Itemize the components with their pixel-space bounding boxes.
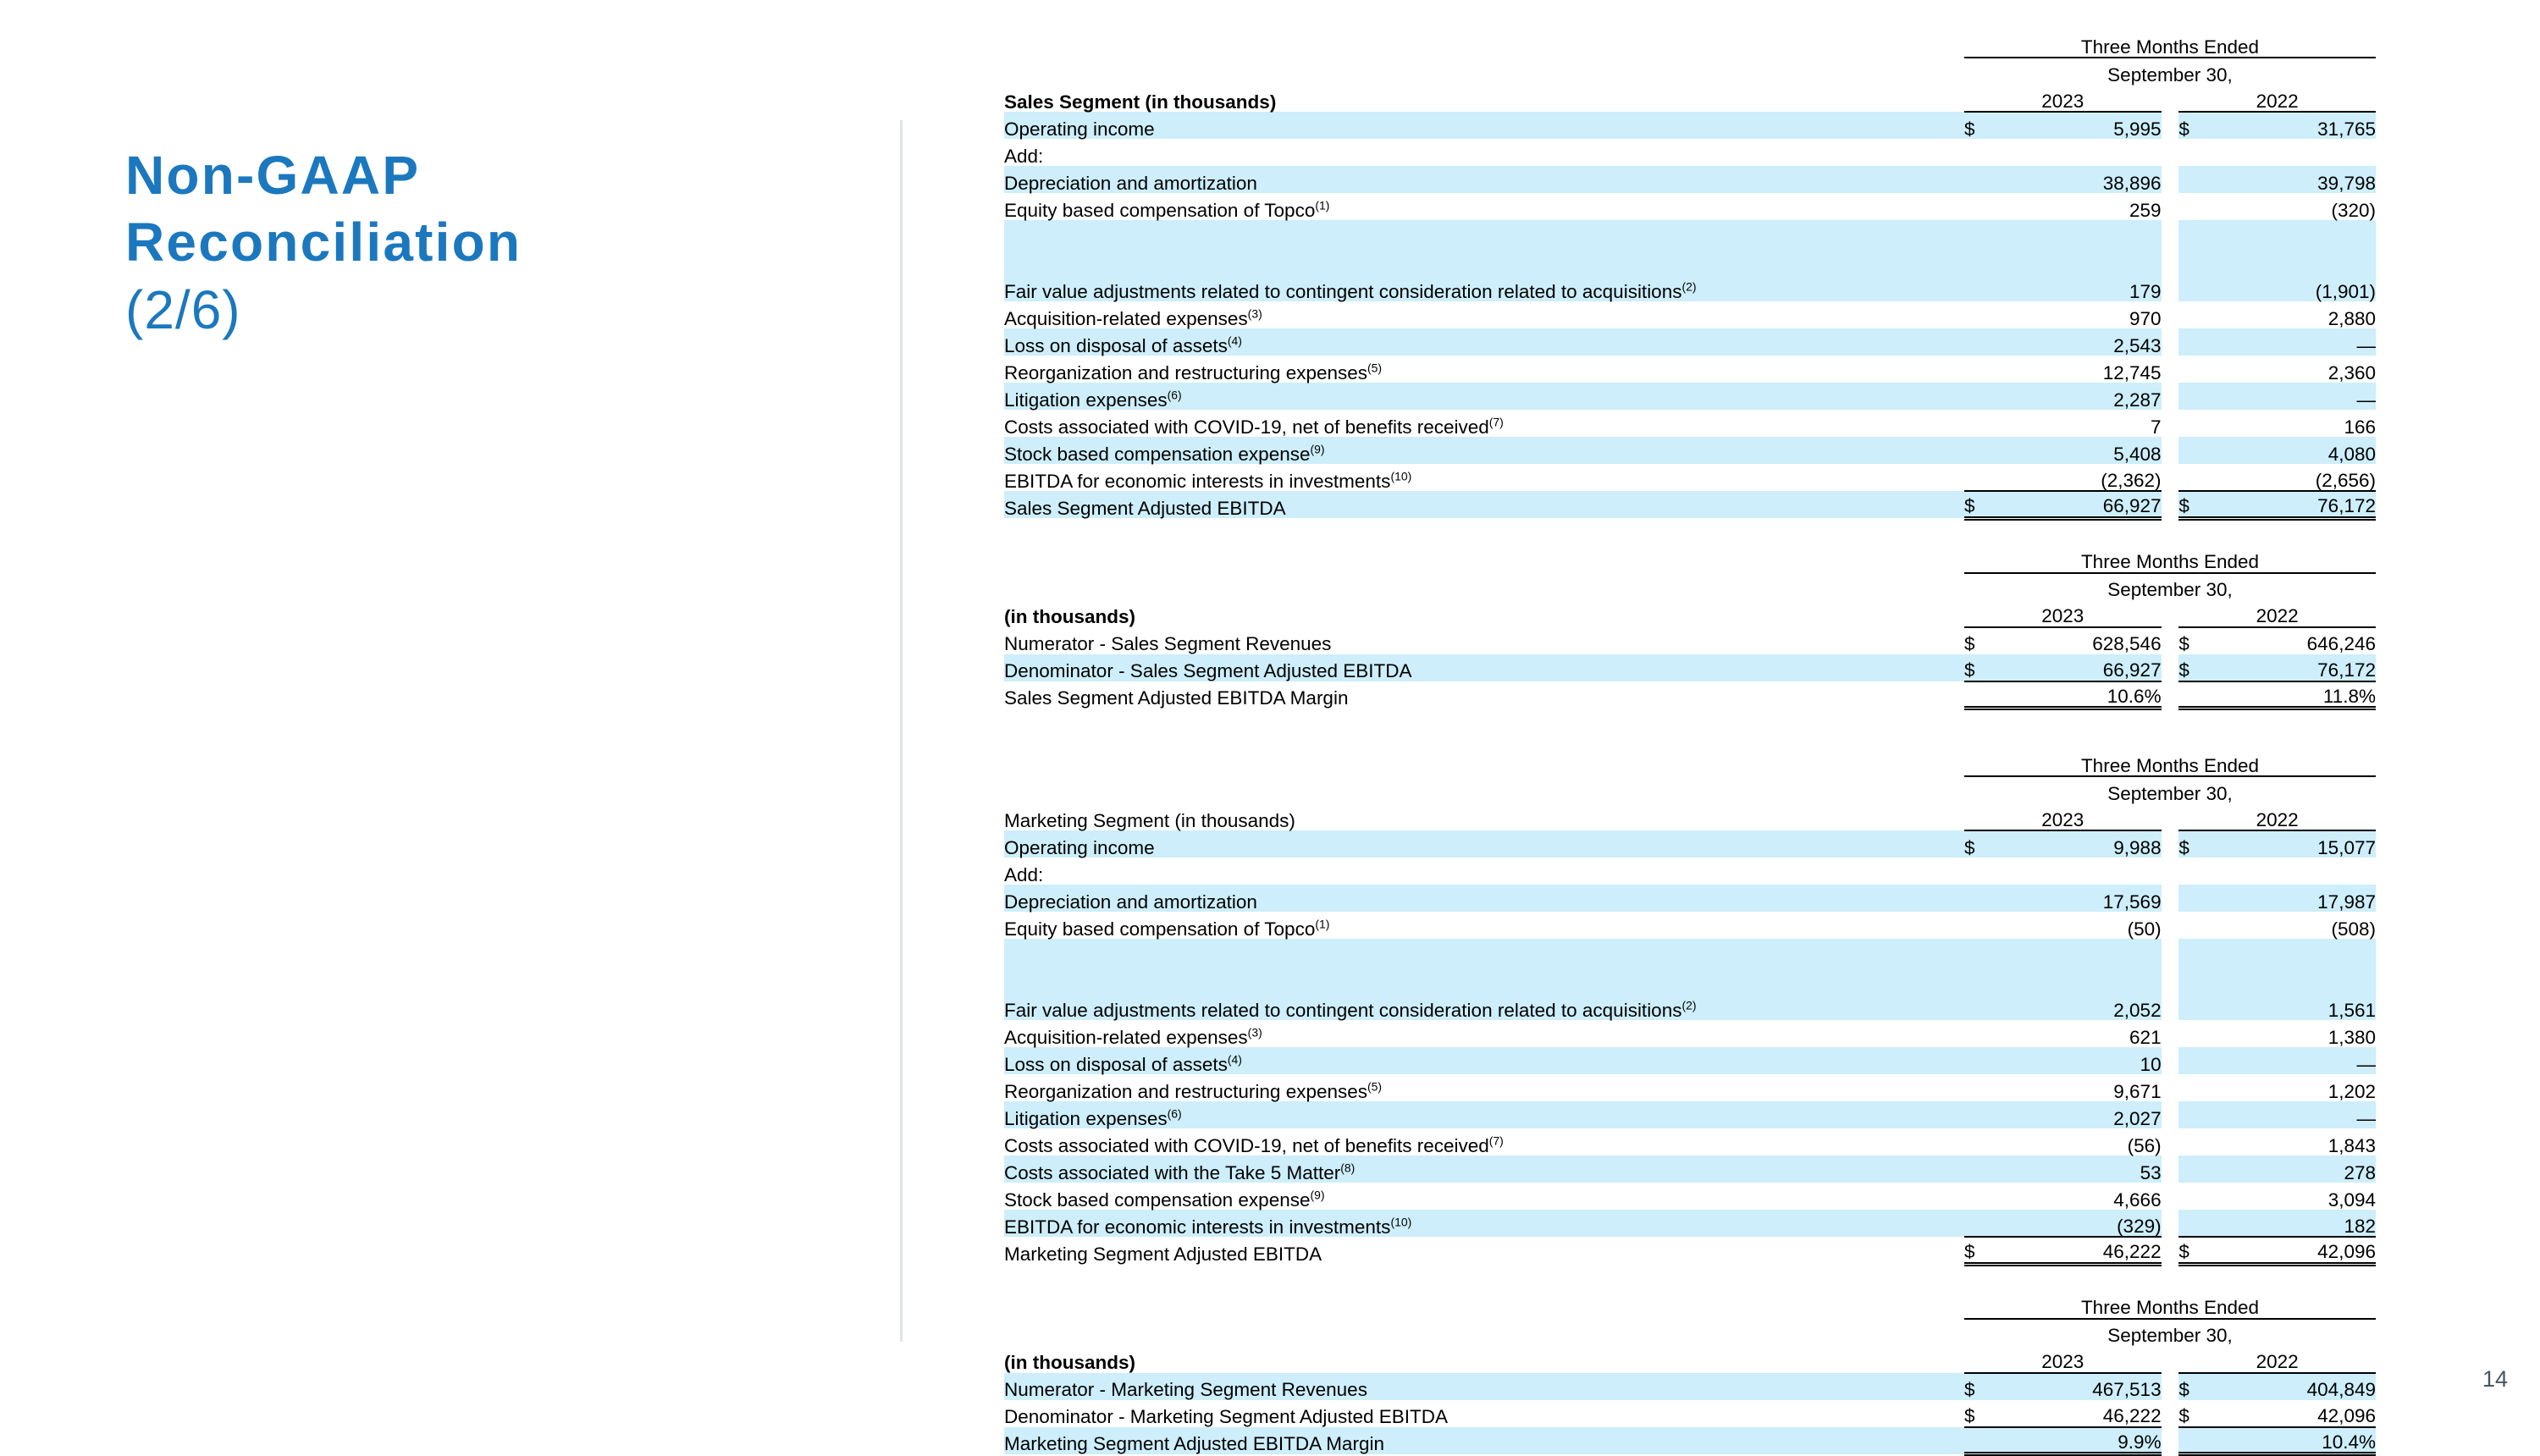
table-column-header-row: Sales Segment (in thousands)20232022 — [1004, 85, 2376, 112]
table-row: Stock based compensation expense(9)5,408… — [1004, 437, 2376, 464]
table-date-header: September 30, — [1964, 1319, 2376, 1346]
value-2022: 4,080 — [2235, 437, 2376, 464]
currency-symbol-2023: $ — [1964, 627, 2020, 654]
currency-symbol-2022 — [2178, 681, 2234, 709]
currency-symbol-2022 — [2178, 437, 2234, 464]
value-2022 — [2235, 247, 2376, 274]
row-label — [1004, 966, 1964, 993]
value-2022 — [2235, 966, 2376, 993]
table-row: Fair value adjustments related to contin… — [1004, 274, 2376, 301]
currency-symbol-2023 — [1964, 274, 2020, 301]
footnote-marker: (7) — [1489, 1133, 1504, 1147]
value-2023: 10.6% — [2020, 681, 2161, 709]
currency-symbol-2023 — [1964, 681, 2020, 709]
row-label: EBITDA for economic interests in investm… — [1004, 1210, 1964, 1237]
value-2022: 1,380 — [2235, 1020, 2376, 1047]
row-label: Operating income — [1004, 830, 1964, 858]
column-gap — [2162, 1427, 2179, 1454]
table-column-header-row: (in thousands)20232022 — [1004, 600, 2376, 627]
table-year-header-2022: 2022 — [2178, 1346, 2376, 1373]
row-label: Marketing Segment Adjusted EBITDA Margin — [1004, 1427, 1964, 1454]
value-2022 — [2235, 139, 2376, 166]
table-row: Acquisition-related expenses(3)6211,380 — [1004, 1020, 2376, 1047]
page-number: 14 — [2482, 1366, 2508, 1393]
currency-symbol-2022 — [2178, 885, 2234, 912]
vertical-divider — [900, 120, 903, 1342]
column-gap — [2162, 1373, 2179, 1400]
table-period-header: Three Months Ended — [1964, 546, 2376, 573]
column-gap — [2162, 1210, 2179, 1237]
currency-symbol-2022 — [2178, 993, 2234, 1020]
row-label: Litigation expenses(6) — [1004, 1101, 1964, 1128]
table-column-header-row: Marketing Segment (in thousands)20232022 — [1004, 803, 2376, 830]
financial-tables-region: Three Months EndedSeptember 30,Sales Seg… — [1004, 30, 2376, 1456]
column-gap — [2162, 912, 2179, 939]
value-2023: 467,513 — [2020, 1373, 2161, 1400]
currency-symbol-2023 — [1964, 220, 2020, 247]
currency-symbol-2023 — [1964, 912, 2020, 939]
table-row — [1004, 939, 2376, 966]
value-2022: — — [2235, 1047, 2376, 1074]
financial-table: Three Months EndedSeptember 30,(in thous… — [1004, 1266, 2376, 1456]
page-title-line-1: Non-GAAP — [125, 142, 853, 209]
table-year-header-2022: 2022 — [2178, 600, 2376, 627]
table-year-header-2022: 2022 — [2178, 85, 2376, 112]
table-row: Reorganization and restructuring expense… — [1004, 1074, 2376, 1101]
table-column-label: (in thousands) — [1004, 1346, 1964, 1373]
footnote-marker: (10) — [1390, 469, 1411, 483]
table-spacer — [1004, 521, 2376, 546]
currency-symbol-2023 — [1964, 966, 2020, 993]
row-label: Sales Segment Adjusted EBITDA — [1004, 491, 1964, 518]
value-2023: (56) — [2020, 1128, 2161, 1155]
table-date-header-row: September 30, — [1004, 58, 2376, 85]
table-row: Marketing Segment Adjusted EBITDA$46,222… — [1004, 1237, 2376, 1264]
value-2023: 9.9% — [2020, 1427, 2161, 1454]
column-gap — [2162, 274, 2179, 301]
table-date-header: September 30, — [1964, 776, 2376, 803]
table-column-label: Sales Segment (in thousands) — [1004, 85, 1964, 112]
table-row — [1004, 247, 2376, 274]
currency-symbol-2023 — [1964, 356, 2020, 383]
table-row: EBITDA for economic interests in investm… — [1004, 1210, 2376, 1237]
table-row: Depreciation and amortization38,89639,79… — [1004, 166, 2376, 193]
row-label: Depreciation and amortization — [1004, 885, 1964, 912]
table-row: Acquisition-related expenses(3)9702,880 — [1004, 301, 2376, 328]
column-gap — [2162, 1074, 2179, 1101]
table-row: Depreciation and amortization17,56917,98… — [1004, 885, 2376, 912]
value-2022: 278 — [2235, 1155, 2376, 1183]
value-2022: — — [2235, 383, 2376, 410]
currency-symbol-2022 — [2178, 1101, 2234, 1128]
row-label: Fair value adjustments related to contin… — [1004, 993, 1964, 1020]
value-2023 — [2020, 939, 2161, 966]
value-2023: 46,222 — [2020, 1400, 2161, 1427]
currency-symbol-2022 — [2178, 464, 2234, 491]
currency-symbol-2022: $ — [2178, 112, 2234, 139]
row-label: Costs associated with COVID-19, net of b… — [1004, 1128, 1964, 1155]
footnote-marker: (3) — [1248, 306, 1262, 320]
value-2022: 2,360 — [2235, 356, 2376, 383]
table-row: Stock based compensation expense(9)4,666… — [1004, 1183, 2376, 1210]
value-2022: 42,096 — [2235, 1400, 2376, 1427]
currency-symbol-2023 — [1964, 993, 2020, 1020]
table-row: Numerator - Marketing Segment Revenues$4… — [1004, 1373, 2376, 1400]
row-label: Denominator - Sales Segment Adjusted EBI… — [1004, 654, 1964, 681]
value-2022: 11.8% — [2235, 681, 2376, 709]
currency-symbol-2023 — [1964, 1210, 2020, 1237]
table-row: Loss on disposal of assets(4)2,543— — [1004, 328, 2376, 356]
value-2023: 621 — [2020, 1020, 2161, 1047]
table-period-header-row: Three Months Ended — [1004, 749, 2376, 776]
currency-symbol-2022 — [2178, 1074, 2234, 1101]
row-label: Equity based compensation of Topco(1) — [1004, 193, 1964, 220]
footnote-marker: (5) — [1367, 1079, 1382, 1093]
table-column-header-row: (in thousands)20232022 — [1004, 1346, 2376, 1373]
currency-symbol-2022 — [2178, 1427, 2234, 1454]
row-label — [1004, 247, 1964, 274]
value-2023: 628,546 — [2020, 627, 2161, 654]
column-gap — [2162, 301, 2179, 328]
table-year-header-2023: 2023 — [1964, 600, 2162, 627]
currency-symbol-2023 — [1964, 139, 2020, 166]
column-gap — [2162, 491, 2179, 518]
table-row — [1004, 966, 2376, 993]
table-column-label: (in thousands) — [1004, 600, 1964, 627]
table-row: Operating income$5,995$31,765 — [1004, 112, 2376, 139]
currency-symbol-2023 — [1964, 1074, 2020, 1101]
currency-symbol-2023 — [1964, 885, 2020, 912]
value-2022: 1,202 — [2235, 1074, 2376, 1101]
value-2022: 182 — [2235, 1210, 2376, 1237]
currency-symbol-2022: $ — [2178, 1373, 2234, 1400]
currency-symbol-2022 — [2178, 410, 2234, 437]
row-label: Costs associated with COVID-19, net of b… — [1004, 410, 1964, 437]
table-spacer — [1004, 710, 2376, 749]
column-gap — [2162, 858, 2179, 885]
currency-symbol-2023: $ — [1964, 1373, 2020, 1400]
value-2023: 179 — [2020, 274, 2161, 301]
currency-symbol-2023 — [1964, 1427, 2020, 1454]
value-2023: 38,896 — [2020, 166, 2161, 193]
currency-symbol-2023: $ — [1964, 1237, 2020, 1264]
currency-symbol-2023 — [1964, 328, 2020, 356]
currency-symbol-2023 — [1964, 247, 2020, 274]
currency-symbol-2023 — [1964, 858, 2020, 885]
row-label: Numerator - Marketing Segment Revenues — [1004, 1373, 1964, 1400]
table-year-header-2023: 2023 — [1964, 803, 2162, 830]
currency-symbol-2022 — [2178, 274, 2234, 301]
footnote-marker: (2) — [1681, 998, 1696, 1012]
column-gap — [2162, 1020, 2179, 1047]
table-row: Reorganization and restructuring expense… — [1004, 356, 2376, 383]
value-2022: 2,880 — [2235, 301, 2376, 328]
table-row: Costs associated with COVID-19, net of b… — [1004, 1128, 2376, 1155]
table-period-header-row: Three Months Ended — [1004, 30, 2376, 58]
currency-symbol-2023 — [1964, 939, 2020, 966]
currency-symbol-2022: $ — [2178, 627, 2234, 654]
value-2023: 970 — [2020, 301, 2161, 328]
currency-symbol-2022: $ — [2178, 830, 2234, 858]
table-row: Fair value adjustments related to contin… — [1004, 993, 2376, 1020]
value-2023 — [2020, 139, 2161, 166]
value-2022: — — [2235, 1101, 2376, 1128]
value-2022: 31,765 — [2235, 112, 2376, 139]
column-gap — [2162, 166, 2179, 193]
column-gap — [2162, 112, 2179, 139]
column-gap — [2162, 939, 2179, 966]
value-2022: 646,246 — [2235, 627, 2376, 654]
currency-symbol-2023 — [1964, 437, 2020, 464]
value-2023: 2,287 — [2020, 383, 2161, 410]
table-period-header: Three Months Ended — [1964, 1292, 2376, 1319]
row-label: Stock based compensation expense(9) — [1004, 1183, 1964, 1210]
table-date-header-row: September 30, — [1004, 776, 2376, 803]
currency-symbol-2023 — [1964, 1155, 2020, 1183]
value-2022 — [2235, 939, 2376, 966]
value-2023: 9,671 — [2020, 1074, 2161, 1101]
table-row: Add: — [1004, 858, 2376, 885]
value-2023 — [2020, 966, 2161, 993]
table-period-header-row: Three Months Ended — [1004, 1292, 2376, 1319]
currency-symbol-2022 — [2178, 166, 2234, 193]
table-row: Loss on disposal of assets(4)10— — [1004, 1047, 2376, 1074]
table-row: Equity based compensation of Topco(1)259… — [1004, 193, 2376, 220]
currency-symbol-2022 — [2178, 966, 2234, 993]
currency-symbol-2022 — [2178, 356, 2234, 383]
currency-symbol-2023 — [1964, 1047, 2020, 1074]
value-2022: 10.4% — [2235, 1427, 2376, 1454]
currency-symbol-2022 — [2178, 193, 2234, 220]
row-label: Loss on disposal of assets(4) — [1004, 1047, 1964, 1074]
currency-symbol-2023 — [1964, 1020, 2020, 1047]
currency-symbol-2023: $ — [1964, 830, 2020, 858]
value-2022: — — [2235, 328, 2376, 356]
value-2022: 15,077 — [2235, 830, 2376, 858]
value-2023: 259 — [2020, 193, 2161, 220]
value-2022: 17,987 — [2235, 885, 2376, 912]
currency-symbol-2023 — [1964, 193, 2020, 220]
currency-symbol-2022 — [2178, 858, 2234, 885]
footnote-marker: (6) — [1168, 388, 1182, 401]
footnote-marker: (8) — [1340, 1161, 1355, 1174]
financial-table: Three Months EndedSeptember 30,(in thous… — [1004, 521, 2376, 711]
currency-symbol-2022 — [2178, 1020, 2234, 1047]
value-2023: 2,052 — [2020, 993, 2161, 1020]
row-label: Marketing Segment Adjusted EBITDA — [1004, 1237, 1964, 1264]
column-gap — [2162, 885, 2179, 912]
row-label: Loss on disposal of assets(4) — [1004, 328, 1964, 356]
table-period-header: Three Months Ended — [1964, 30, 2376, 58]
footnote-marker: (7) — [1489, 415, 1504, 428]
value-2022: 39,798 — [2235, 166, 2376, 193]
value-2023 — [2020, 858, 2161, 885]
table-year-header-2022: 2022 — [2178, 803, 2376, 830]
value-2022: 76,172 — [2235, 654, 2376, 681]
column-gap — [2162, 247, 2179, 274]
value-2023: 4,666 — [2020, 1183, 2161, 1210]
value-2023: (2,362) — [2020, 464, 2161, 491]
currency-symbol-2023 — [1964, 1183, 2020, 1210]
column-gap — [2162, 993, 2179, 1020]
value-2022: 1,561 — [2235, 993, 2376, 1020]
currency-symbol-2023 — [1964, 166, 2020, 193]
value-2023: 66,927 — [2020, 654, 2161, 681]
column-gap — [2162, 627, 2179, 654]
footnote-marker: (6) — [1168, 1106, 1182, 1120]
column-gap — [2162, 654, 2179, 681]
row-label: Numerator - Sales Segment Revenues — [1004, 627, 1964, 654]
column-gap — [2162, 464, 2179, 491]
table-row: Sales Segment Adjusted EBITDA$66,927$76,… — [1004, 491, 2376, 518]
value-2022: 166 — [2235, 410, 2376, 437]
page-title-line-2: Reconciliation — [125, 209, 853, 276]
table-spacer — [1004, 1266, 2376, 1292]
currency-symbol-2023 — [1964, 410, 2020, 437]
financial-table: Three Months EndedSeptember 30,Marketing… — [1004, 710, 2376, 1266]
footnote-marker: (1) — [1315, 917, 1329, 930]
row-label: Reorganization and restructuring expense… — [1004, 356, 1964, 383]
currency-symbol-2022 — [2178, 220, 2234, 247]
value-2023: 46,222 — [2020, 1237, 2161, 1264]
column-gap — [2162, 220, 2179, 247]
currency-symbol-2023 — [1964, 383, 2020, 410]
value-2023: 10 — [2020, 1047, 2161, 1074]
value-2022 — [2235, 858, 2376, 885]
footnote-marker: (5) — [1367, 361, 1382, 374]
currency-symbol-2022: $ — [2178, 1400, 2234, 1427]
currency-symbol-2022 — [2178, 139, 2234, 166]
table-row: Numerator - Sales Segment Revenues$628,5… — [1004, 627, 2376, 654]
row-label: Equity based compensation of Topco(1) — [1004, 912, 1964, 939]
value-2023: 53 — [2020, 1155, 2161, 1183]
page-title: Non-GAAP Reconciliation (2/6) — [125, 142, 853, 344]
value-2023: (50) — [2020, 912, 2161, 939]
column-gap — [2162, 193, 2179, 220]
column-gap — [2162, 1400, 2179, 1427]
row-label: Add: — [1004, 858, 1964, 885]
currency-symbol-2022 — [2178, 1128, 2234, 1155]
column-gap — [2162, 1155, 2179, 1183]
value-2023: 5,408 — [2020, 437, 2161, 464]
value-2022: (320) — [2235, 193, 2376, 220]
currency-symbol-2022 — [2178, 1183, 2234, 1210]
column-gap — [2162, 1128, 2179, 1155]
currency-symbol-2022 — [2178, 328, 2234, 356]
currency-symbol-2022 — [2178, 912, 2234, 939]
row-label: Fair value adjustments related to contin… — [1004, 274, 1964, 301]
table-year-header-2023: 2023 — [1964, 1346, 2162, 1373]
value-2023: 9,988 — [2020, 830, 2161, 858]
column-gap — [2162, 410, 2179, 437]
row-label: Add: — [1004, 139, 1964, 166]
table-row: Denominator - Marketing Segment Adjusted… — [1004, 1400, 2376, 1427]
footnote-marker: (1) — [1315, 198, 1329, 212]
table-date-header: September 30, — [1964, 58, 2376, 85]
footnote-marker: (4) — [1228, 1052, 1242, 1066]
column-gap — [2162, 1047, 2179, 1074]
footnote-marker: (3) — [1248, 1025, 1262, 1039]
value-2023: 66,927 — [2020, 491, 2161, 518]
currency-symbol-2022: $ — [2178, 654, 2234, 681]
row-label: Acquisition-related expenses(3) — [1004, 301, 1964, 328]
table-date-header-row: September 30, — [1004, 1319, 2376, 1346]
footnote-marker: (10) — [1390, 1215, 1411, 1228]
financial-table: Three Months EndedSeptember 30,Sales Seg… — [1004, 30, 2376, 521]
value-2023: 7 — [2020, 410, 2161, 437]
row-label: EBITDA for economic interests in investm… — [1004, 464, 1964, 491]
currency-symbol-2022 — [2178, 939, 2234, 966]
value-2022 — [2235, 220, 2376, 247]
table-row: Costs associated with COVID-19, net of b… — [1004, 410, 2376, 437]
table-period-header: Three Months Ended — [1964, 749, 2376, 776]
column-gap — [2162, 139, 2179, 166]
footnote-marker: (9) — [1310, 1188, 1324, 1201]
value-2023: 5,995 — [2020, 112, 2161, 139]
value-2022: (508) — [2235, 912, 2376, 939]
table-year-header-2023: 2023 — [1964, 85, 2162, 112]
row-label: Depreciation and amortization — [1004, 166, 1964, 193]
table-row: Costs associated with the Take 5 Matter(… — [1004, 1155, 2376, 1183]
column-gap — [2162, 1101, 2179, 1128]
column-gap — [2162, 1237, 2179, 1264]
column-gap — [2162, 966, 2179, 993]
table-row: Add: — [1004, 139, 2376, 166]
value-2023: 17,569 — [2020, 885, 2161, 912]
column-gap — [2162, 681, 2179, 709]
value-2023: 2,027 — [2020, 1101, 2161, 1128]
row-label — [1004, 939, 1964, 966]
value-2022: (2,656) — [2235, 464, 2376, 491]
footnote-marker: (2) — [1681, 279, 1696, 293]
table-row: Litigation expenses(6)2,027— — [1004, 1101, 2376, 1128]
table-date-header-row: September 30, — [1004, 573, 2376, 600]
value-2022: 1,843 — [2235, 1128, 2376, 1155]
value-2023: (329) — [2020, 1210, 2161, 1237]
table-row: EBITDA for economic interests in investm… — [1004, 464, 2376, 491]
currency-symbol-2022: $ — [2178, 1237, 2234, 1264]
row-label: Acquisition-related expenses(3) — [1004, 1020, 1964, 1047]
currency-symbol-2023 — [1964, 301, 2020, 328]
value-2023: 2,543 — [2020, 328, 2161, 356]
value-2022: 404,849 — [2235, 1373, 2376, 1400]
table-row: Sales Segment Adjusted EBITDA Margin10.6… — [1004, 681, 2376, 709]
row-label: Denominator - Marketing Segment Adjusted… — [1004, 1400, 1964, 1427]
row-label: Litigation expenses(6) — [1004, 383, 1964, 410]
currency-symbol-2022: $ — [2178, 491, 2234, 518]
table-row: Marketing Segment Adjusted EBITDA Margin… — [1004, 1427, 2376, 1454]
page-title-line-3: (2/6) — [125, 277, 853, 344]
table-date-header: September 30, — [1964, 573, 2376, 600]
row-label: Sales Segment Adjusted EBITDA Margin — [1004, 681, 1964, 709]
table-row: Equity based compensation of Topco(1)(50… — [1004, 912, 2376, 939]
footnote-marker: (9) — [1310, 442, 1324, 455]
value-2023 — [2020, 220, 2161, 247]
footnote-marker: (4) — [1228, 334, 1242, 347]
currency-symbol-2023 — [1964, 1128, 2020, 1155]
currency-symbol-2022 — [2178, 1210, 2234, 1237]
table-row: Operating income$9,988$15,077 — [1004, 830, 2376, 858]
value-2023: 12,745 — [2020, 356, 2161, 383]
currency-symbol-2022 — [2178, 301, 2234, 328]
value-2022: 42,096 — [2235, 1237, 2376, 1264]
row-label — [1004, 220, 1964, 247]
currency-symbol-2023 — [1964, 1101, 2020, 1128]
value-2023 — [2020, 247, 2161, 274]
currency-symbol-2022 — [2178, 1047, 2234, 1074]
column-gap — [2162, 437, 2179, 464]
value-2022: 3,094 — [2235, 1183, 2376, 1210]
